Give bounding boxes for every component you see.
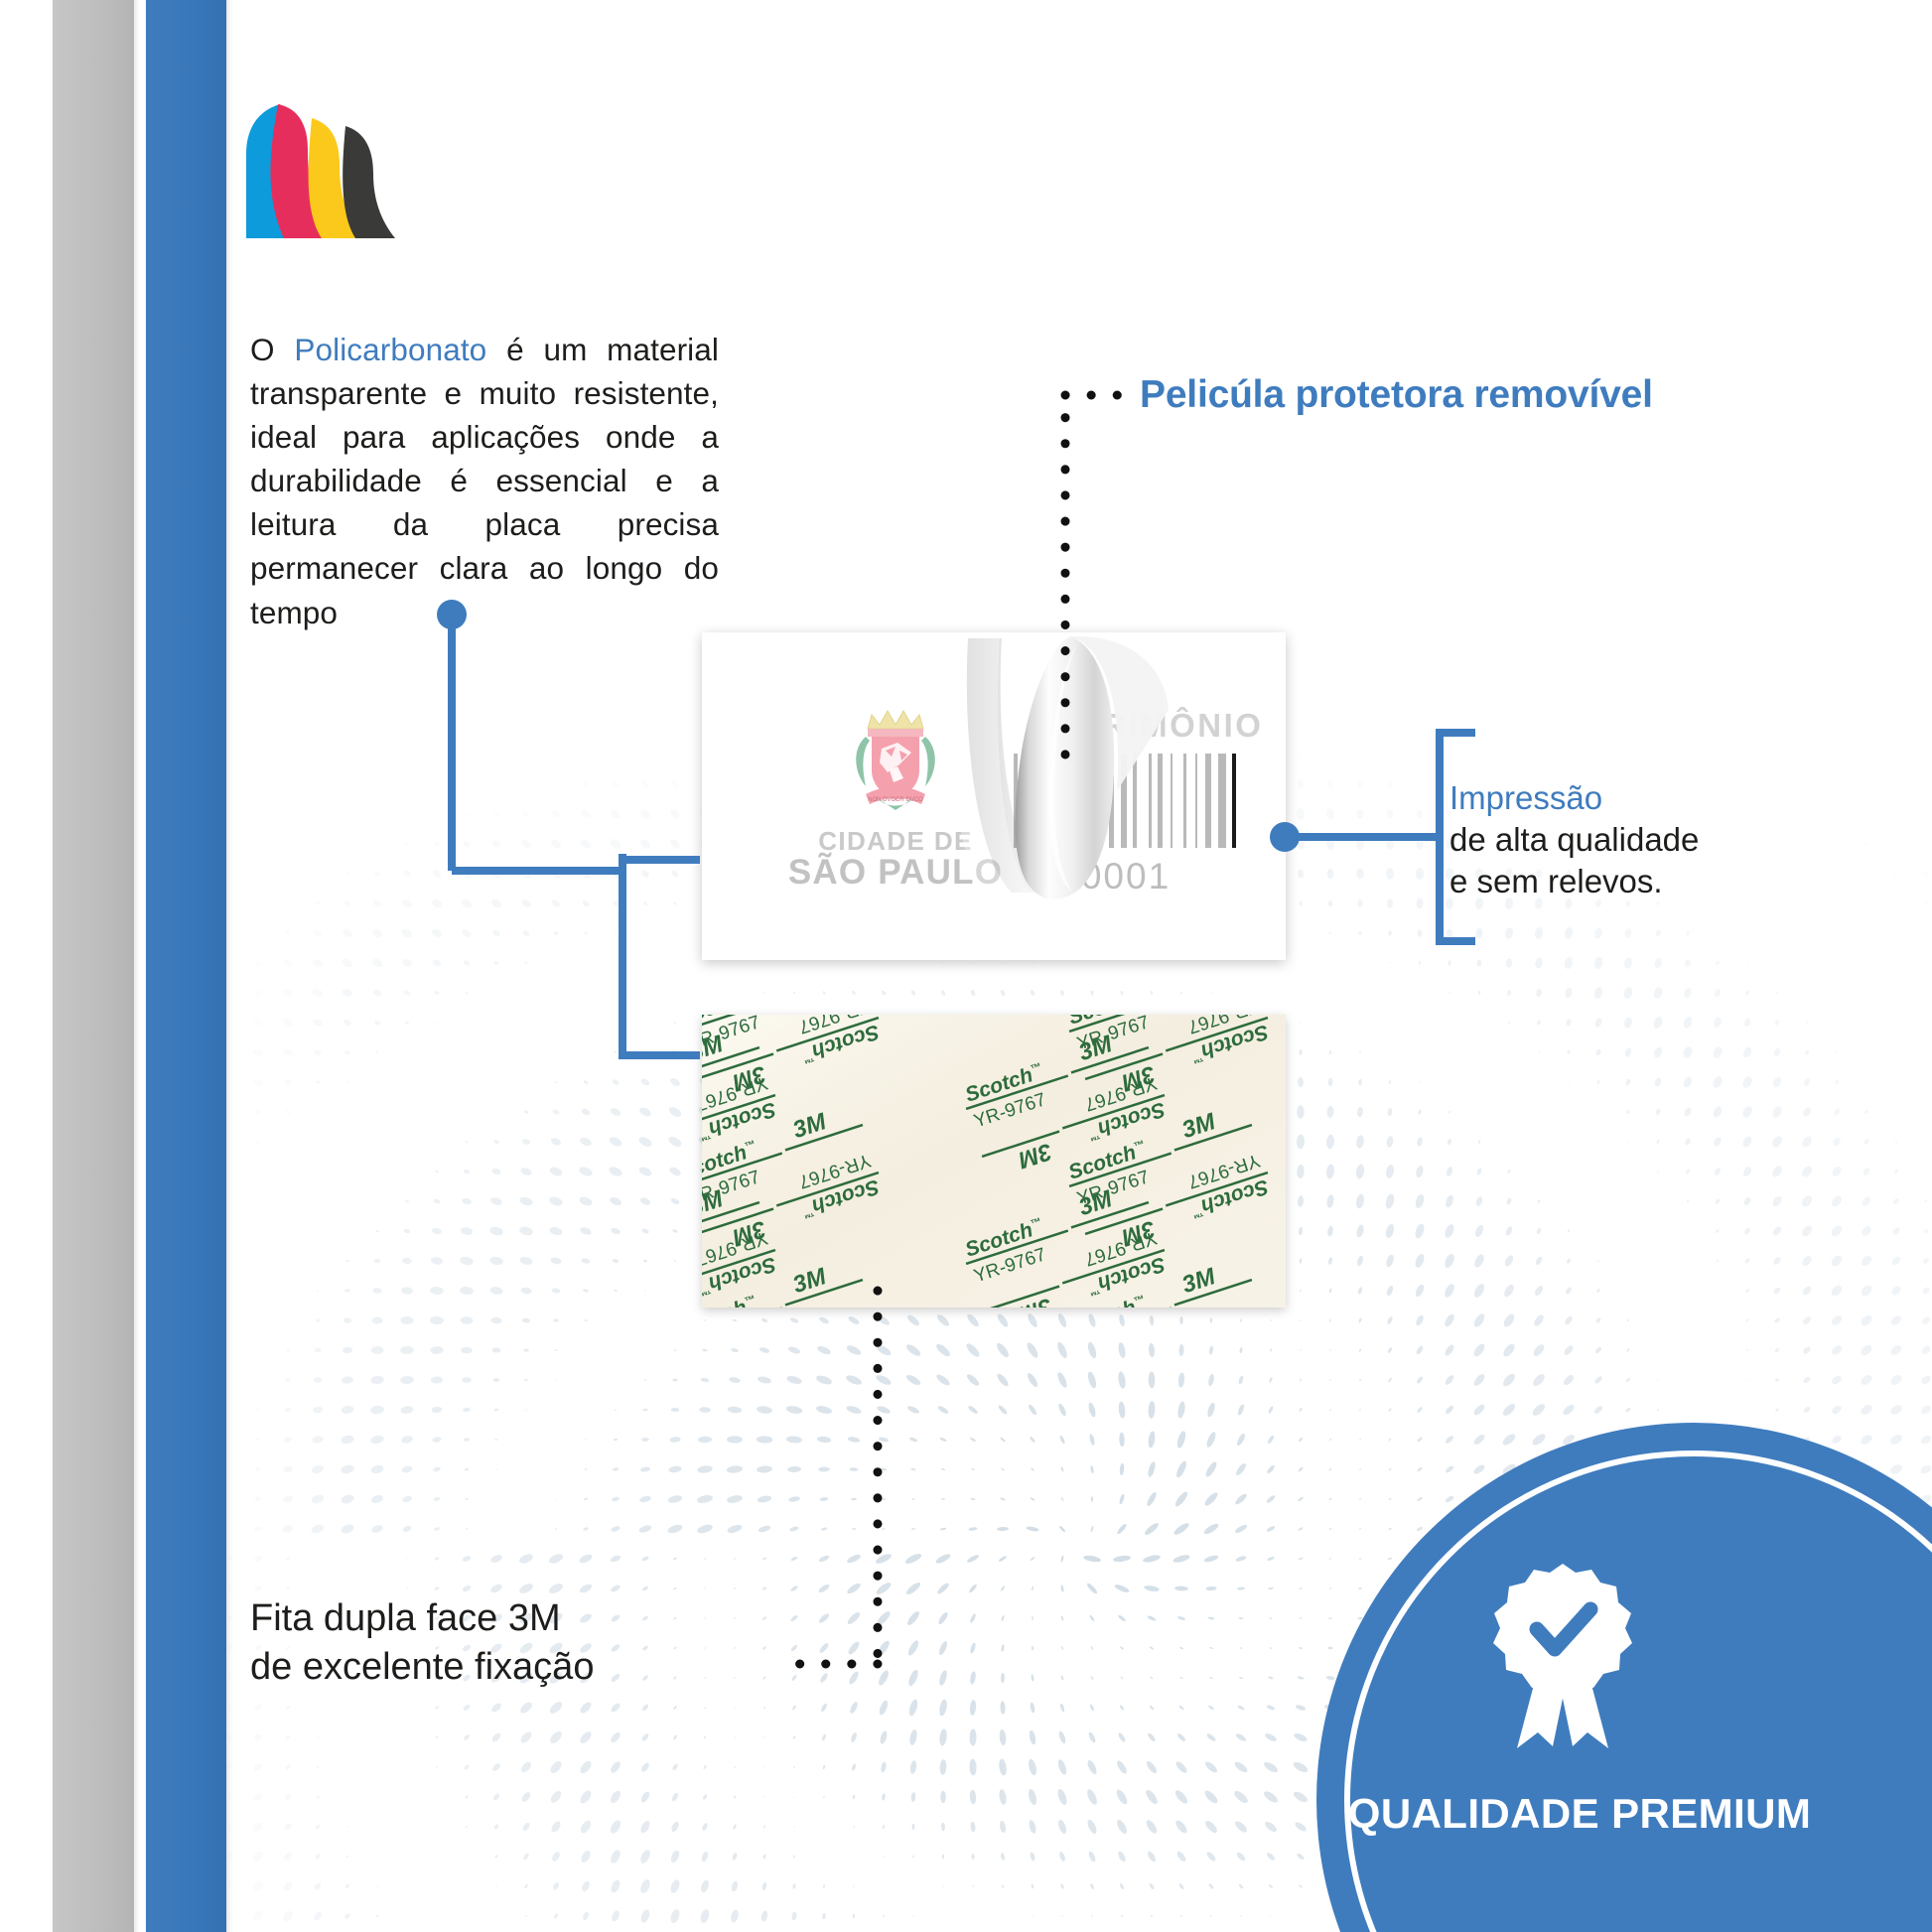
badge-label: QUALIDADE PREMIUM — [1316, 1790, 1843, 1838]
3m-tape-photo: Scotch™YR-97673MScotch™YR-97673MScotch™Y… — [702, 1015, 1286, 1308]
intro-paragraph: O Policarbonato é um material transparen… — [250, 328, 719, 634]
label-serial-number: 0001 — [1012, 856, 1240, 897]
callout-print-highlight: Impressão — [1449, 777, 1866, 819]
left-accent-bar-blue — [146, 0, 226, 1932]
sao-paulo-crest-icon: NON DVCOR DVCO — [848, 707, 943, 816]
callout-tape-line1: Fita dupla face 3M — [250, 1597, 561, 1639]
intro-prefix: O — [250, 332, 294, 367]
infographic-canvas: O Policarbonato é um material transparen… — [0, 0, 1932, 1932]
callout-print-line2: e sem relevos. — [1449, 863, 1663, 899]
intro-highlight: Policarbonato — [294, 332, 486, 367]
callout-print-line1: de alta qualidade — [1449, 821, 1699, 858]
headline-protective-film: Pelicúla protetora removível — [1140, 373, 1653, 417]
callout-tape-line2: de excelente fixação — [250, 1646, 594, 1688]
label-patrimony-title: PATRIMÔNIO — [1010, 707, 1286, 745]
asset-label-card: NON DVCOR DVCO CIDADE DE SÃO PAULO PATRI… — [702, 632, 1286, 960]
intro-body: é um material transparente e muito resis… — [250, 332, 719, 630]
label-city-line2: SÃO PAULO — [771, 853, 1020, 893]
left-accent-bar-gray — [53, 0, 134, 1932]
scotch-tape-pattern: Scotch™YR-97673MScotch™YR-97673MScotch™Y… — [702, 1015, 1286, 1308]
cmyk-logo-icon — [246, 104, 425, 238]
premium-quality-badge: QUALIDADE PREMIUM — [1316, 1423, 1932, 1932]
barcode-icon — [1012, 754, 1270, 848]
ribbon-check-icon — [1483, 1562, 1642, 1750]
callout-print-quality: Impressão de alta qualidade e sem relevo… — [1449, 777, 1866, 903]
svg-text:NON DVCOR DVCO: NON DVCOR DVCO — [868, 797, 923, 803]
dotted-connector-tape — [794, 1291, 878, 1664]
callout-3m-tape: Fita dupla face 3M de excelente fixação — [250, 1594, 806, 1693]
